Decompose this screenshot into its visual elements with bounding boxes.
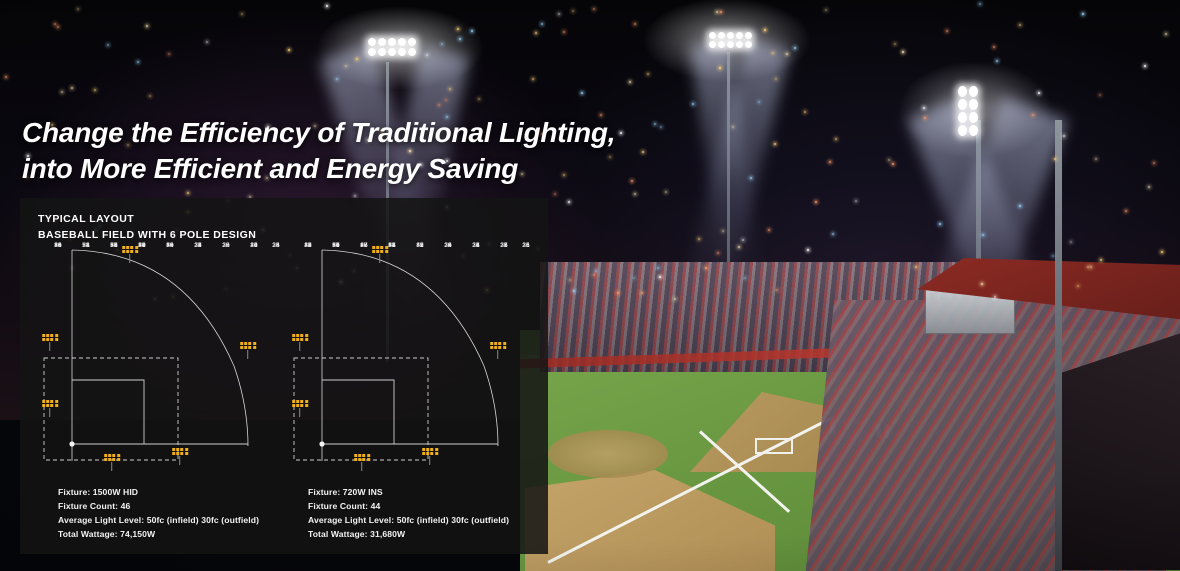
fixture-icon: [503, 346, 506, 349]
fixture-icon: [176, 448, 179, 451]
fixture-icon: [240, 346, 243, 349]
light-pole-icon: [172, 448, 188, 465]
light-pole-icon: [42, 334, 58, 351]
fixture-icon: [385, 250, 388, 253]
fixture-icon: [372, 250, 375, 253]
layout-diagrams: 2130212028282928242438333335352621312734…: [20, 246, 548, 461]
fixture-icon: [301, 400, 304, 403]
fixture-icon: [51, 334, 54, 337]
fixture-icon: [494, 342, 497, 345]
fixture-icon: [249, 342, 252, 345]
fixture-icon: [381, 250, 384, 253]
fixture-icon: [305, 404, 308, 407]
spec-total-wattage: Total Wattage: 31,680W: [308, 528, 509, 542]
fixture-icon: [376, 246, 379, 249]
fixture-icon: [292, 338, 295, 341]
typical-layout-panel: TYPICAL LAYOUT BASEBALL FIELD WITH 6 POL…: [20, 198, 548, 554]
pole-stem: [362, 462, 363, 471]
footcandle-cell: 32: [194, 243, 201, 249]
fixture-icon: [301, 338, 304, 341]
pole-stem: [248, 350, 249, 359]
fixture-icon: [42, 404, 45, 407]
fixture-icon: [381, 246, 384, 249]
footcandle-cell: 49: [332, 243, 339, 249]
footcandle-cell: 30: [222, 243, 229, 249]
fixture-array-icon: [122, 246, 138, 253]
fixture-icon: [185, 448, 188, 451]
panel-heading-line-1: TYPICAL LAYOUT: [38, 212, 256, 228]
spec-total-wattage: Total Wattage: 74,150W: [58, 528, 259, 542]
footcandle-cell: 25: [522, 243, 529, 249]
fixture-icon: [422, 452, 425, 455]
light-pole-icon: [104, 454, 120, 471]
spec-fixture: Fixture: 1500W HID: [58, 486, 259, 500]
footcandle-cell: 38: [360, 243, 367, 249]
fixture-icon: [51, 400, 54, 403]
footcandle-cell: 41: [388, 243, 395, 249]
fixture-icon: [385, 246, 388, 249]
spec-light-level: Average Light Level: 50fc (infield) 30fc…: [58, 514, 259, 528]
light-pole-icon: [240, 342, 256, 359]
footcandle-cell: 32: [500, 243, 507, 249]
pole-stem: [180, 456, 181, 465]
footcandle-cell: 42: [416, 243, 423, 249]
fixture-icon: [354, 458, 357, 461]
pole-stem: [300, 342, 301, 351]
pole-stem: [112, 462, 113, 471]
fixture-icon: [431, 452, 434, 455]
fixture-icon: [126, 246, 129, 249]
fixture-icon: [253, 342, 256, 345]
fixture-icon: [46, 400, 49, 403]
fixture-icon: [244, 346, 247, 349]
fixture-array-icon: [42, 334, 58, 341]
pole-stem: [50, 408, 51, 417]
footcandle-cell: 24: [272, 243, 279, 249]
fixture-icon: [253, 346, 256, 349]
fixture-icon: [172, 452, 175, 455]
fixture-icon: [244, 342, 247, 345]
fixture-icon: [305, 334, 308, 337]
fixture-array-icon: [354, 454, 370, 461]
fixture-array-icon: [422, 448, 438, 455]
fixture-icon: [301, 404, 304, 407]
footcandle-cell: 53: [82, 243, 89, 249]
fixture-icon: [181, 452, 184, 455]
pole-stem: [300, 408, 301, 417]
fixture-icon: [42, 334, 45, 337]
fixture-icon: [135, 246, 138, 249]
fixture-array-icon: [104, 454, 120, 461]
fixture-icon: [172, 448, 175, 451]
fixture-icon: [42, 400, 45, 403]
light-pole-icon: [422, 448, 438, 465]
light-pole-icon: [354, 454, 370, 471]
headline-line-2: into More Efficient and Energy Saving: [22, 151, 742, 187]
fixture-icon: [51, 338, 54, 341]
fixture-array-icon: [292, 400, 308, 407]
headline-line-1: Change the Efficiency of Traditional Lig…: [22, 115, 742, 151]
fixture-icon: [117, 458, 120, 461]
fixture-icon: [240, 342, 243, 345]
fixture-icon: [55, 400, 58, 403]
fixture-icon: [358, 458, 361, 461]
fixture-icon: [296, 338, 299, 341]
fixture-icon: [55, 334, 58, 337]
fixture-icon: [126, 250, 129, 253]
fixture-icon: [367, 454, 370, 457]
fixture-icon: [431, 448, 434, 451]
fixture-icon: [292, 400, 295, 403]
fixture-array-icon: [172, 448, 188, 455]
fixture-icon: [181, 448, 184, 451]
light-pole-icon: [292, 400, 308, 417]
fixture-icon: [131, 246, 134, 249]
spec-fixture: Fixture: 720W INS: [308, 486, 509, 500]
footcandle-cell: 21: [250, 243, 257, 249]
fixture-array-icon: [292, 334, 308, 341]
fixture-icon: [296, 334, 299, 337]
spec-fixture-count: Fixture Count: 46: [58, 500, 259, 514]
fixture-icon: [42, 338, 45, 341]
fixture-icon: [435, 448, 438, 451]
fixture-icon: [108, 454, 111, 457]
pole-stem: [50, 342, 51, 351]
fixture-icon: [499, 342, 502, 345]
fixture-icon: [354, 454, 357, 457]
footcandle-cell: 40: [138, 243, 145, 249]
fixture-icon: [490, 342, 493, 345]
layout-diagram-hid: 2130212028282928242438333335352621312734…: [34, 246, 284, 461]
footcandle-cell: 38: [166, 243, 173, 249]
fixture-icon: [46, 334, 49, 337]
light-pole-icon: [122, 246, 138, 263]
fixture-icon: [503, 342, 506, 345]
fixture-array-icon: [372, 246, 388, 253]
fixture-icon: [363, 458, 366, 461]
fixture-icon: [301, 334, 304, 337]
fixture-icon: [499, 346, 502, 349]
fixture-icon: [372, 246, 375, 249]
light-pole-icon: [42, 400, 58, 417]
footcandle-cell: 36: [54, 243, 61, 249]
layout-diagram-ins: 2428262130272843292431253237363630352628…: [284, 246, 534, 461]
fixture-icon: [131, 250, 134, 253]
fixture-icon: [108, 458, 111, 461]
spec-fixture-count: Fixture Count: 44: [308, 500, 509, 514]
fixture-icon: [55, 338, 58, 341]
fixture-icon: [104, 454, 107, 457]
page-title: Change the Efficiency of Traditional Lig…: [22, 115, 742, 187]
fixture-icon: [296, 404, 299, 407]
footcandle-cell: 41: [110, 243, 117, 249]
fixture-icon: [135, 250, 138, 253]
fixture-array-icon: [490, 342, 506, 349]
fixture-icon: [113, 458, 116, 461]
pole-stem: [498, 350, 499, 359]
fixture-icon: [122, 246, 125, 249]
spec-column-hid: Fixture: 1500W HID Fixture Count: 46 Ave…: [58, 486, 259, 542]
footcandle-cell: 32: [472, 243, 479, 249]
fixture-icon: [46, 338, 49, 341]
pole-stem: [130, 254, 131, 263]
fixture-icon: [363, 454, 366, 457]
fixture-array-icon: [42, 400, 58, 407]
light-pole-icon: [292, 334, 308, 351]
fixture-icon: [249, 346, 252, 349]
fixture-icon: [426, 452, 429, 455]
fixture-icon: [305, 400, 308, 403]
spec-light-level: Average Light Level: 50fc (infield) 30fc…: [308, 514, 509, 528]
fixture-icon: [292, 404, 295, 407]
promo-banner: Change the Efficiency of Traditional Lig…: [0, 0, 1180, 571]
fixture-icon: [104, 458, 107, 461]
fixture-icon: [435, 452, 438, 455]
spec-text-block: Fixture: 1500W HID Fixture Count: 46 Ave…: [20, 486, 548, 550]
fixture-icon: [494, 346, 497, 349]
fixture-icon: [51, 404, 54, 407]
fixture-icon: [376, 250, 379, 253]
fixture-icon: [422, 448, 425, 451]
spec-column-ins: Fixture: 720W INS Fixture Count: 44 Aver…: [308, 486, 509, 542]
fixture-icon: [122, 250, 125, 253]
fixture-icon: [113, 454, 116, 457]
fixture-array-icon: [240, 342, 256, 349]
fixture-icon: [46, 404, 49, 407]
fixture-icon: [367, 458, 370, 461]
pole-stem: [430, 456, 431, 465]
fixture-icon: [305, 338, 308, 341]
fixture-icon: [185, 452, 188, 455]
light-pole-icon: [490, 342, 506, 359]
fixture-icon: [358, 454, 361, 457]
fixture-icon: [292, 334, 295, 337]
fixture-icon: [117, 454, 120, 457]
light-pole-icon: [372, 246, 388, 263]
fixture-icon: [490, 346, 493, 349]
fixture-icon: [296, 400, 299, 403]
panel-heading: TYPICAL LAYOUT BASEBALL FIELD WITH 6 POL…: [38, 212, 256, 244]
fixture-icon: [176, 452, 179, 455]
fixture-icon: [426, 448, 429, 451]
footcandle-cell: 37: [304, 243, 311, 249]
fixture-icon: [55, 404, 58, 407]
footcandle-cell: 22: [444, 243, 451, 249]
pole-stem: [380, 254, 381, 263]
